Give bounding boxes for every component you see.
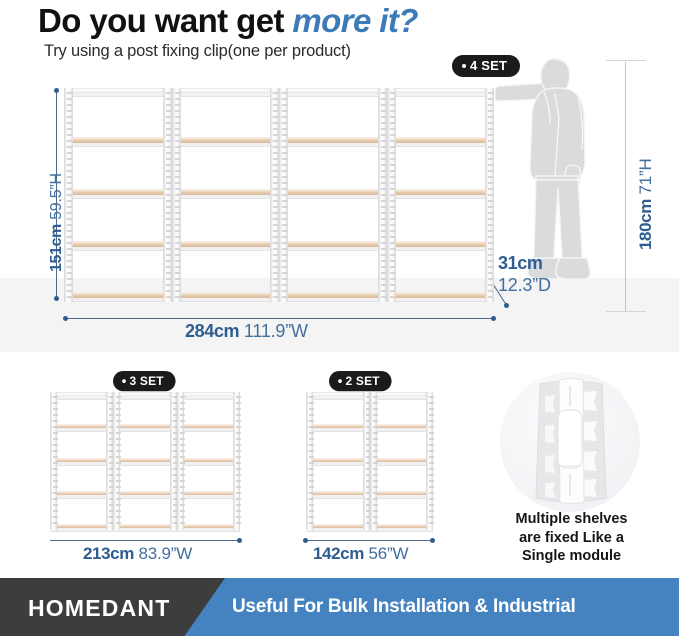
rack-shelf [370,424,434,429]
brand-logo: HOMEDANT [28,595,170,622]
rack-post [172,88,181,302]
rack-shelf [113,458,176,463]
rack-bay [387,88,495,302]
rack-bay [370,392,434,530]
dim-value-imperial: 83.9”W [138,544,192,563]
dim-dot [237,538,242,543]
rack-4-set [64,88,494,302]
rack-shelf [64,292,172,299]
connector-caption: Multiple shelves are fixed Like a Single… [484,510,659,566]
post-fixing-clip-icon [528,378,614,506]
connector-caption-line-1: Multiple shelves [484,510,659,529]
rack-shelf [370,524,434,529]
rack-bay [113,392,176,530]
rack-shelf [387,292,495,299]
badge-dot-icon [122,379,126,383]
dim-tick-bottom [606,311,646,312]
rack-shelf [306,491,370,496]
dim-value-imperial: 12.3”D [498,275,551,295]
dim-dot [54,296,59,301]
rack-post [387,88,396,302]
dim-line-3set-width [50,540,240,541]
rack-3-set [50,392,240,530]
rack-shelf-top [387,88,495,94]
rack-post [233,392,240,530]
rack-post [64,88,73,302]
rack-shelf [64,241,172,248]
dim-value-metric: 142cm [313,544,364,563]
rack-bay [279,88,387,302]
rack-shelf [177,524,240,529]
rack-bay [64,88,172,302]
rack-post [306,392,313,530]
dim-dot [504,303,509,308]
rack-shelf [64,189,172,196]
dim-value-imperial: 59.5”H [48,173,65,220]
dim-line-2set-width [306,540,433,541]
rack-shelf [50,524,113,529]
rack-bay [50,392,113,530]
rack-shelf [50,491,113,496]
rack-post [378,88,387,302]
connector-caption-line-2: are fixed Like a [484,529,659,548]
rack-shelf [306,458,370,463]
rack-shelf [177,491,240,496]
page-title: Do you want get more it? [38,2,418,40]
badge-dot-icon [338,379,342,383]
dim-value-imperial: 56”W [368,544,408,563]
rack-shelf [177,424,240,429]
badge-3-set: 3 SET [113,371,176,391]
rack-shelf [172,189,280,196]
badge-2-set: 2 SET [329,371,392,391]
rack-shelf [177,458,240,463]
dim-line-person-height [625,62,626,312]
rack-shelf-top [306,392,370,397]
dim-dot [430,538,435,543]
dim-dot [303,538,308,543]
rack-post [163,88,172,302]
rack-shelf [279,137,387,144]
page-subtitle: Try using a post fixing clip(one per pro… [44,42,351,61]
rack-post [426,392,433,530]
rack-post [113,392,120,530]
rack-shelf-top [172,88,280,94]
headline-accent: more it? [292,2,417,39]
connector-caption-line-3: Single module [484,547,659,566]
rack-shelf [113,524,176,529]
rack-post [279,88,288,302]
dim-label-3set-width: 213cm 83.9”W [83,544,192,564]
rack-post [50,392,57,530]
rack-shelf [279,292,387,299]
rack-post [106,392,113,530]
rack-shelf [50,424,113,429]
dim-label-person-height: 180cm 71”H [636,158,656,250]
rack-shelf [387,189,495,196]
dim-line-width [66,318,494,319]
dim-value-metric: 284cm [185,321,239,341]
rack-bay [172,88,280,302]
dim-value-imperial: 111.9”W [244,321,308,341]
dim-tick-top [606,60,646,61]
rack-shelf [172,137,280,144]
dim-value-imperial: 71”H [636,158,655,194]
dim-label-depth-metric: 31cm [498,253,542,274]
rack-bay [306,392,370,530]
dim-value-metric: 180cm [636,199,655,250]
dim-value-metric: 151cm [48,224,65,272]
rack-shelf-top [64,88,172,94]
rack-shelf-top [279,88,387,94]
rack-shelf-top [50,392,113,397]
rack-shelf [279,189,387,196]
rack-shelf [113,424,176,429]
badge-3-set-label: 3 SET [130,374,164,388]
rack-post [485,88,494,302]
headline-primary: Do you want get [38,2,284,39]
footer-bar: HOMEDANT Useful For Bulk Installation & … [0,578,679,636]
rack-shelf [64,137,172,144]
dim-label-main-width: 284cm 111.9”W [185,321,308,342]
dim-dot [491,316,496,321]
dim-value-metric: 213cm [83,544,134,563]
dim-label-depth-imperial: 12.3”D [498,275,551,296]
rack-bay [177,392,240,530]
infographic-page: Do you want get more it? Try using a pos… [0,0,679,636]
rack-shelf [370,458,434,463]
badge-dot-icon [462,64,466,68]
badge-2-set-label: 2 SET [346,374,380,388]
rack-post [177,392,184,530]
rack-post [370,392,377,530]
dim-dot [63,316,68,321]
rack-post [363,392,370,530]
rack-shelf [113,491,176,496]
rack-shelf-top [113,392,176,397]
rack-shelf [306,524,370,529]
rack-shelf [387,241,495,248]
rack-post [170,392,177,530]
rack-shelf [50,458,113,463]
rack-shelf [306,424,370,429]
dim-label-2set-width: 142cm 56”W [313,544,408,564]
rack-shelf [172,292,280,299]
rack-shelf [387,137,495,144]
rack-shelf [172,241,280,248]
rack-2-set [306,392,433,530]
rack-post [270,88,279,302]
dim-value-metric: 31cm [498,253,542,273]
rack-shelf-top [177,392,240,397]
rack-shelf [370,491,434,496]
rack-shelf-top [370,392,434,397]
dim-dot [54,88,59,93]
footer-tagline: Useful For Bulk Installation & Industria… [232,596,575,618]
rack-shelf [279,241,387,248]
